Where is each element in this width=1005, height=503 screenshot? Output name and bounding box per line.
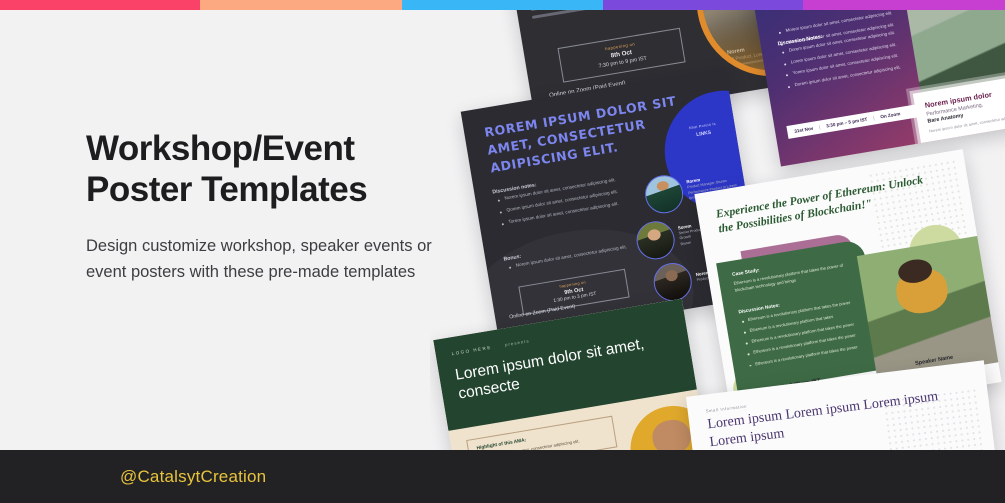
color-segment-peach	[200, 0, 402, 10]
poster-purple-gradient[interactable]: Morem ipsum dolor sit amet, consectetur …	[743, 0, 1005, 167]
poster-collage: happening on 8th Oct 7:30 pm to 9 pm IST…	[430, 0, 1005, 452]
color-segment-pink	[0, 0, 200, 10]
platform-value: On Zoom	[880, 111, 901, 119]
color-segment-magenta	[803, 0, 1005, 10]
footer-bar: @CatalsytCreation	[0, 450, 1005, 503]
speaker-avatar	[634, 218, 678, 262]
notes-list: Norem ipsum dolor sit amet, consectetur …	[497, 173, 646, 232]
poster-heading: Rorem ipsum dolor sit amet, consectetur …	[483, 92, 684, 177]
color-segment-blue	[402, 0, 603, 10]
case-study-text: Ethereum is a revolutionary platform tha…	[733, 262, 846, 293]
top-color-bar	[0, 0, 1005, 10]
time-value: 3:30 pm – 5 pm IST	[826, 117, 868, 129]
color-segment-purple	[603, 0, 803, 10]
page-title-line-1: Workshop/Event	[86, 128, 436, 169]
page-title-line-2: Poster Templates	[86, 169, 436, 210]
speaker-avatar	[642, 172, 686, 216]
page-title: Workshop/Event Poster Templates	[86, 128, 436, 211]
hero-copy-block: Workshop/Event Poster Templates Design c…	[86, 128, 436, 286]
date-value: 31st Nov	[794, 126, 814, 134]
poster-green-header[interactable]: LOGO HERE presents Lorem ipsum dolor sit…	[433, 299, 715, 452]
speaker-avatar	[651, 260, 695, 304]
poster-dark-top-datebox: happening on 8th Oct 7:30 pm to 9 pm IST	[557, 28, 685, 83]
page-subtitle: Design customize workshop, speaker event…	[86, 233, 436, 286]
brand-handle[interactable]: @CatalsytCreation	[120, 467, 266, 487]
